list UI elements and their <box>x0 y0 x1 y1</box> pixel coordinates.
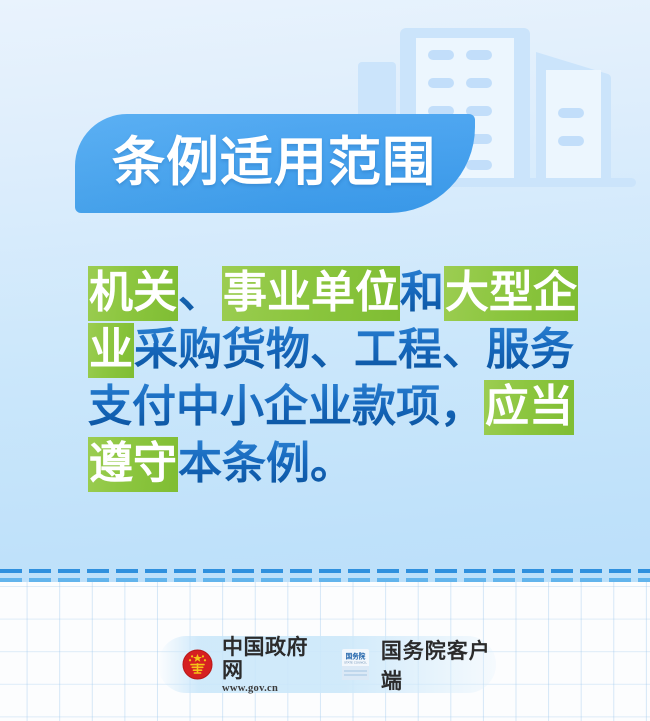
body-copy: 机关、事业单位和大型企 业采购货物、工程、服务 支付中小企业款项，应当 遵守本条… <box>88 264 588 492</box>
highlight-phrase: 遵守 <box>88 437 178 492</box>
app-name-label: 国务院客户端 <box>381 635 496 695</box>
body-line-4: 遵守本条例。 <box>88 435 588 492</box>
highlight-phrase: 大型企 <box>444 266 578 321</box>
punctuation: 、 <box>178 268 222 317</box>
highlight-phrase: 应当 <box>484 380 574 435</box>
poster-canvas: 条例适用范围 机关、事业单位和大型企 业采购货物、工程、服务 支付中小企业款项，… <box>0 0 650 721</box>
state-council-app-icon: 国务院 STATE COUNCIL <box>342 649 369 680</box>
body-line-1: 机关、事业单位和大型企 <box>88 264 588 321</box>
body-line-3: 支付中小企业款项，应当 <box>88 378 588 435</box>
gov-site-name: 中国政府网 <box>222 636 316 682</box>
body-text: 和 <box>400 268 444 317</box>
footer-branding: 中国政府网 www.gov.cn 国务院 STATE COUNCIL 国务院客户… <box>158 635 496 695</box>
body-text: 支付中小企业款项， <box>88 382 484 431</box>
divider-dashed-dark <box>0 569 650 573</box>
highlight-phrase: 机关 <box>88 266 178 321</box>
footer-bar: 中国政府网 www.gov.cn 国务院 STATE COUNCIL 国务院客户… <box>158 636 496 693</box>
national-emblem-icon <box>182 649 213 680</box>
highlight-phrase: 事业单位 <box>222 266 400 321</box>
gov-site-label: 中国政府网 www.gov.cn <box>222 636 316 694</box>
page-title: 条例适用范围 <box>112 128 436 198</box>
svg-text:国务院: 国务院 <box>345 651 365 660</box>
gov-site-url: www.gov.cn <box>222 683 316 694</box>
svg-text:STATE COUNCIL: STATE COUNCIL <box>344 660 367 664</box>
highlight-phrase: 业 <box>88 323 134 378</box>
body-text: 本条例。 <box>178 439 354 488</box>
body-line-2: 业采购货物、工程、服务 <box>88 321 588 378</box>
title-banner: 条例适用范围 <box>75 114 475 213</box>
body-text: 采购货物、工程、服务 <box>134 325 574 374</box>
